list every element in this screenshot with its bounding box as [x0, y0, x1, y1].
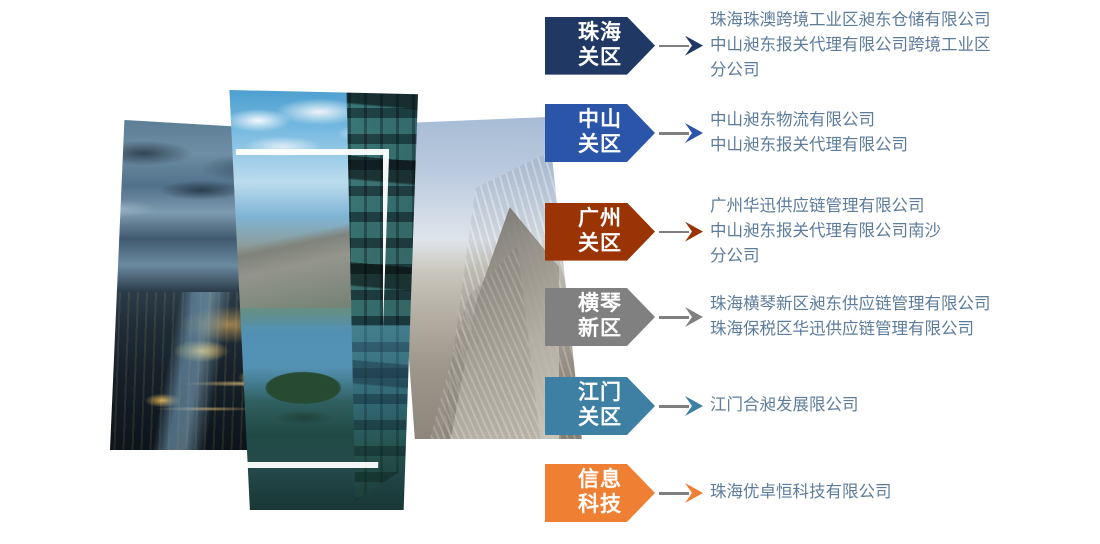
arrow-icon	[659, 396, 704, 416]
company-names: 珠海珠澳跨境工业区昶东仓储有限公司 中山昶东报关代理有限公司跨境工业区 分公司	[704, 8, 1100, 83]
arrow-icon	[659, 307, 704, 327]
badge-line1: 江门	[578, 381, 622, 406]
arrow-icon	[659, 123, 704, 143]
badge-line1: 横琴	[578, 292, 622, 317]
badge-line2: 科技	[578, 493, 622, 518]
architecture-sweep-shape	[441, 207, 559, 439]
badge-line1: 信息	[578, 468, 622, 493]
photo-collage	[0, 0, 545, 544]
company-names: 珠海优卓恒科技有限公司	[704, 480, 1100, 505]
badge-information-technology[interactable]: 信息 科技	[545, 464, 655, 522]
list-row-jiangmen[interactable]: 江门 关区 江门合昶发展限公司	[545, 377, 1100, 435]
arrow-shaft	[659, 492, 689, 495]
white-photo-frame-inner	[232, 152, 386, 465]
arrow-icon	[659, 36, 704, 56]
white-photo-frame	[229, 149, 389, 468]
list-row-guangzhou[interactable]: 广州 关区 广州华迅供应链管理有限公司 中山昶东报关代理有限公司南沙 分公司	[545, 194, 1100, 269]
infographic-stage: 珠海 关区 珠海珠澳跨境工业区昶东仓储有限公司 中山昶东报关代理有限公司跨境工业…	[0, 0, 1100, 544]
badge-guangzhou[interactable]: 广州 关区	[545, 203, 655, 261]
list-row-zhongshan[interactable]: 中山 关区 中山昶东物流有限公司 中山昶东报关代理有限公司	[545, 104, 1100, 162]
badge-line2: 新区	[578, 317, 622, 342]
list-row-information-technology[interactable]: 信息 科技 珠海优卓恒科技有限公司	[545, 464, 1100, 522]
badge-line2: 关区	[578, 232, 622, 257]
badge-zhongshan[interactable]: 中山 关区	[545, 104, 655, 162]
badge-zhuhai[interactable]: 珠海 关区	[545, 17, 655, 75]
badge-line2: 关区	[578, 406, 622, 431]
arrow-shaft	[659, 405, 689, 408]
arrow-icon	[659, 222, 704, 242]
arrow-shaft	[659, 316, 689, 319]
company-names: 广州华迅供应链管理有限公司 中山昶东报关代理有限公司南沙 分公司	[704, 194, 1100, 269]
badge-hengqin[interactable]: 横琴 新区	[545, 288, 655, 346]
badge-line1: 广州	[578, 207, 622, 232]
company-names: 江门合昶发展限公司	[704, 393, 1100, 418]
badge-jiangmen[interactable]: 江门 关区	[545, 377, 655, 435]
badge-line1: 中山	[578, 108, 622, 133]
badge-line2: 关区	[578, 46, 622, 71]
arrow-shaft	[659, 231, 689, 234]
arrow-shaft	[659, 132, 689, 135]
company-names: 珠海横琴新区昶东供应链管理有限公司 珠海保税区华迅供应链管理有限公司	[704, 292, 1100, 342]
list-row-hengqin[interactable]: 横琴 新区 珠海横琴新区昶东供应链管理有限公司 珠海保税区华迅供应链管理有限公司	[545, 288, 1100, 346]
arrow-shaft	[659, 45, 689, 48]
customs-district-list: 珠海 关区 珠海珠澳跨境工业区昶东仓储有限公司 中山昶东报关代理有限公司跨境工业…	[545, 0, 1100, 544]
list-row-zhuhai[interactable]: 珠海 关区 珠海珠澳跨境工业区昶东仓储有限公司 中山昶东报关代理有限公司跨境工业…	[545, 8, 1100, 83]
badge-line1: 珠海	[578, 21, 622, 46]
company-names: 中山昶东物流有限公司 中山昶东报关代理有限公司	[704, 108, 1100, 158]
badge-line2: 关区	[578, 133, 622, 158]
arrow-icon	[659, 483, 704, 503]
